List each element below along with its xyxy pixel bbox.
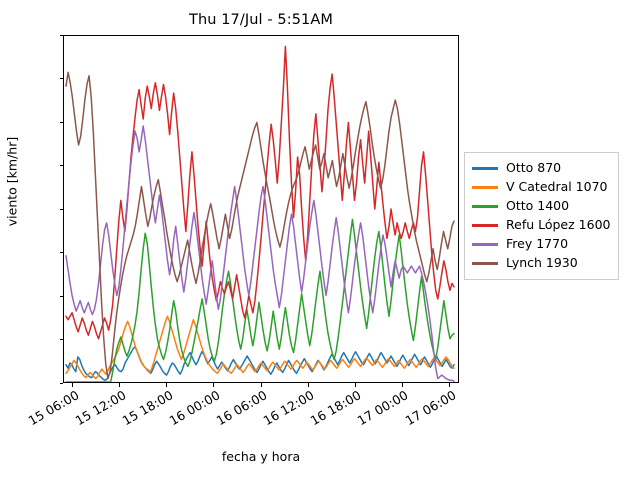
- legend-item[interactable]: V Catedral 1070: [472, 178, 610, 197]
- legend-item[interactable]: Refu López 1600: [472, 216, 610, 235]
- y-axis-label: viento [km/hr]: [5, 32, 20, 332]
- legend-item[interactable]: Frey 1770: [472, 235, 610, 254]
- legend-item[interactable]: Lynch 1930: [472, 254, 610, 273]
- legend-color-swatch: [472, 262, 498, 264]
- legend-label: V Catedral 1070: [506, 181, 608, 194]
- legend-item[interactable]: Otto 1400: [472, 197, 610, 216]
- legend-color-swatch: [472, 167, 498, 169]
- legend-label: Frey 1770: [506, 238, 568, 251]
- x-tick-mark: [119, 383, 120, 387]
- x-tick-mark: [213, 383, 214, 387]
- legend-label: Refu López 1600: [506, 219, 610, 232]
- x-tick-mark: [72, 383, 73, 387]
- series-lines: [64, 36, 458, 382]
- legend-color-swatch: [472, 205, 498, 207]
- x-tick-mark: [449, 383, 450, 387]
- legend-color-swatch: [472, 186, 498, 188]
- legend-label: Otto 870: [506, 162, 561, 175]
- plot-area: [63, 35, 459, 383]
- x-axis-label: fecha y hora: [63, 449, 459, 464]
- chart-title: Thu 17/Jul - 5:51AM: [63, 12, 459, 28]
- series-line: [66, 46, 454, 338]
- legend-box: Otto 870V Catedral 1070Otto 1400Refu Lóp…: [464, 152, 619, 280]
- legend-item[interactable]: Otto 870: [472, 159, 610, 178]
- figure-canvas: Thu 17/Jul - 5:51AM viento [km/hr] 05101…: [0, 0, 640, 480]
- x-tick-mark: [261, 383, 262, 387]
- x-tick-mark: [166, 383, 167, 387]
- legend-color-swatch: [472, 224, 498, 226]
- legend-color-swatch: [472, 243, 498, 245]
- legend-label: Lynch 1930: [506, 257, 578, 270]
- legend-label: Otto 1400: [506, 200, 569, 213]
